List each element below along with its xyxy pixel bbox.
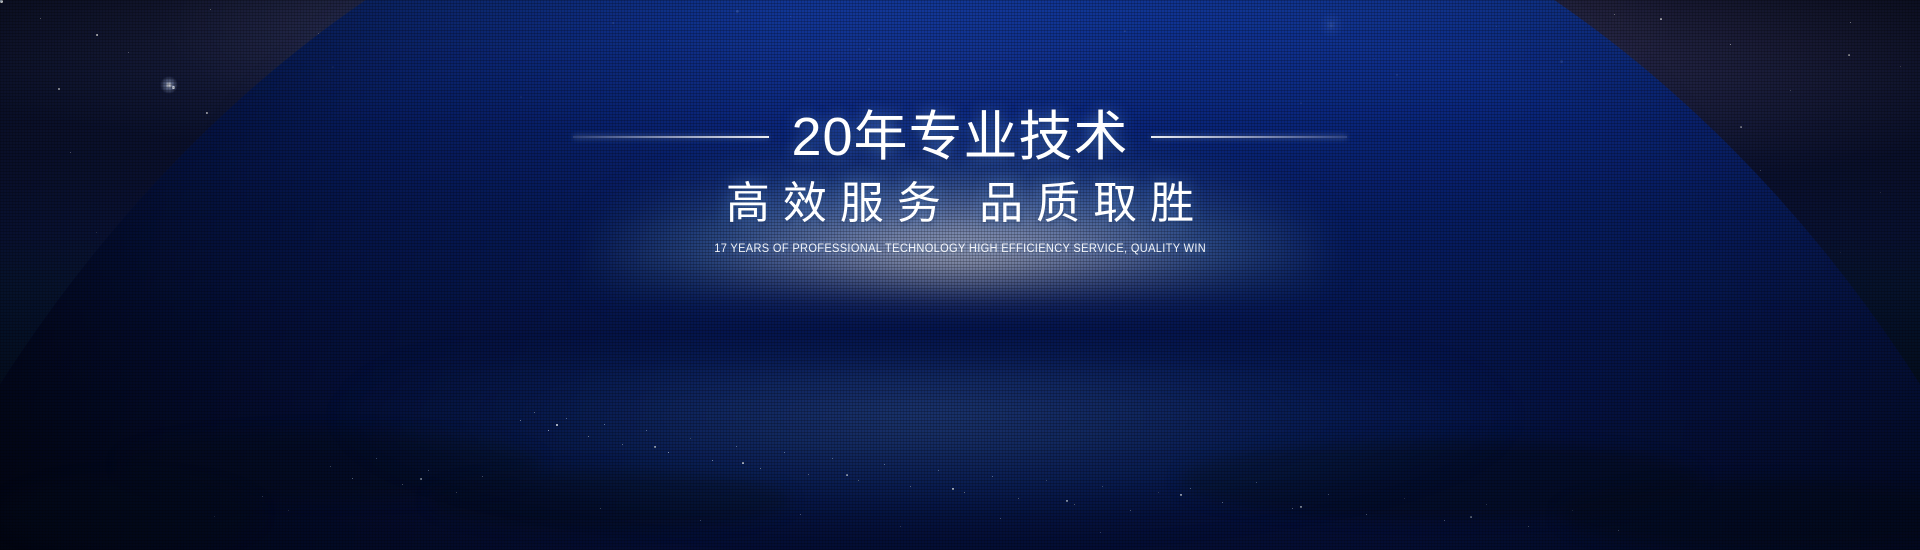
banner-subheadline: 高效服务 品质取胜 [713,182,1207,226]
decorative-rule-right [1151,136,1347,138]
earth-terminator-shadow [0,0,1920,550]
banner-english-tagline: 17 YEARS OF PROFESSIONAL TECHNOLOGY HIGH… [714,243,1206,255]
hero-banner: 20年专业技术 高效服务 品质取胜 17 YEARS OF PROFESSION… [0,0,1920,550]
decorative-rule-left [573,136,769,138]
earth-limb [0,0,1920,550]
headline-row: 20年专业技术 [573,110,1346,164]
banner-headline: 20年专业技术 [791,110,1128,164]
banner-copy: 20年专业技术 高效服务 品质取胜 17 YEARS OF PROFESSION… [0,110,1920,255]
